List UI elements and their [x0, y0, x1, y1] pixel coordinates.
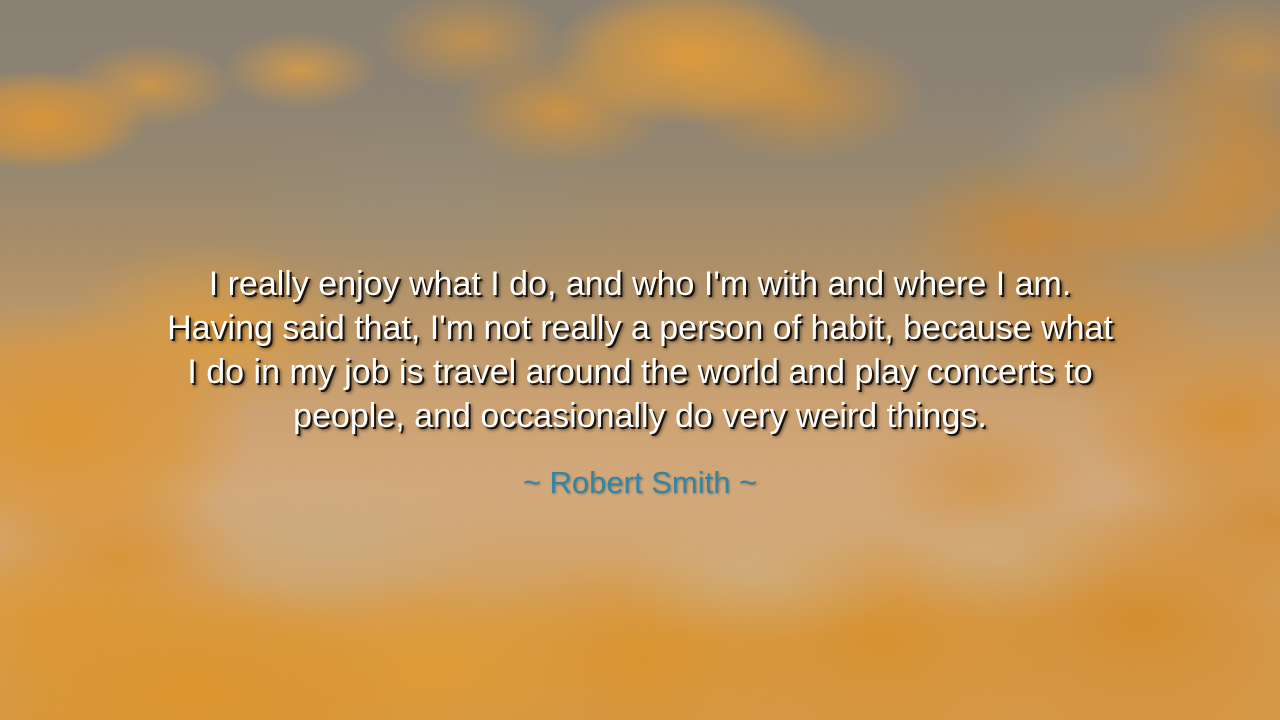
quote-text: I really enjoy what I do, and who I'm wi…: [90, 262, 1190, 438]
text-overlay: I really enjoy what I do, and who I'm wi…: [0, 0, 1280, 720]
quote-image-canvas: I really enjoy what I do, and who I'm wi…: [0, 0, 1280, 720]
quote-attribution: ~ Robert Smith ~: [523, 438, 757, 502]
